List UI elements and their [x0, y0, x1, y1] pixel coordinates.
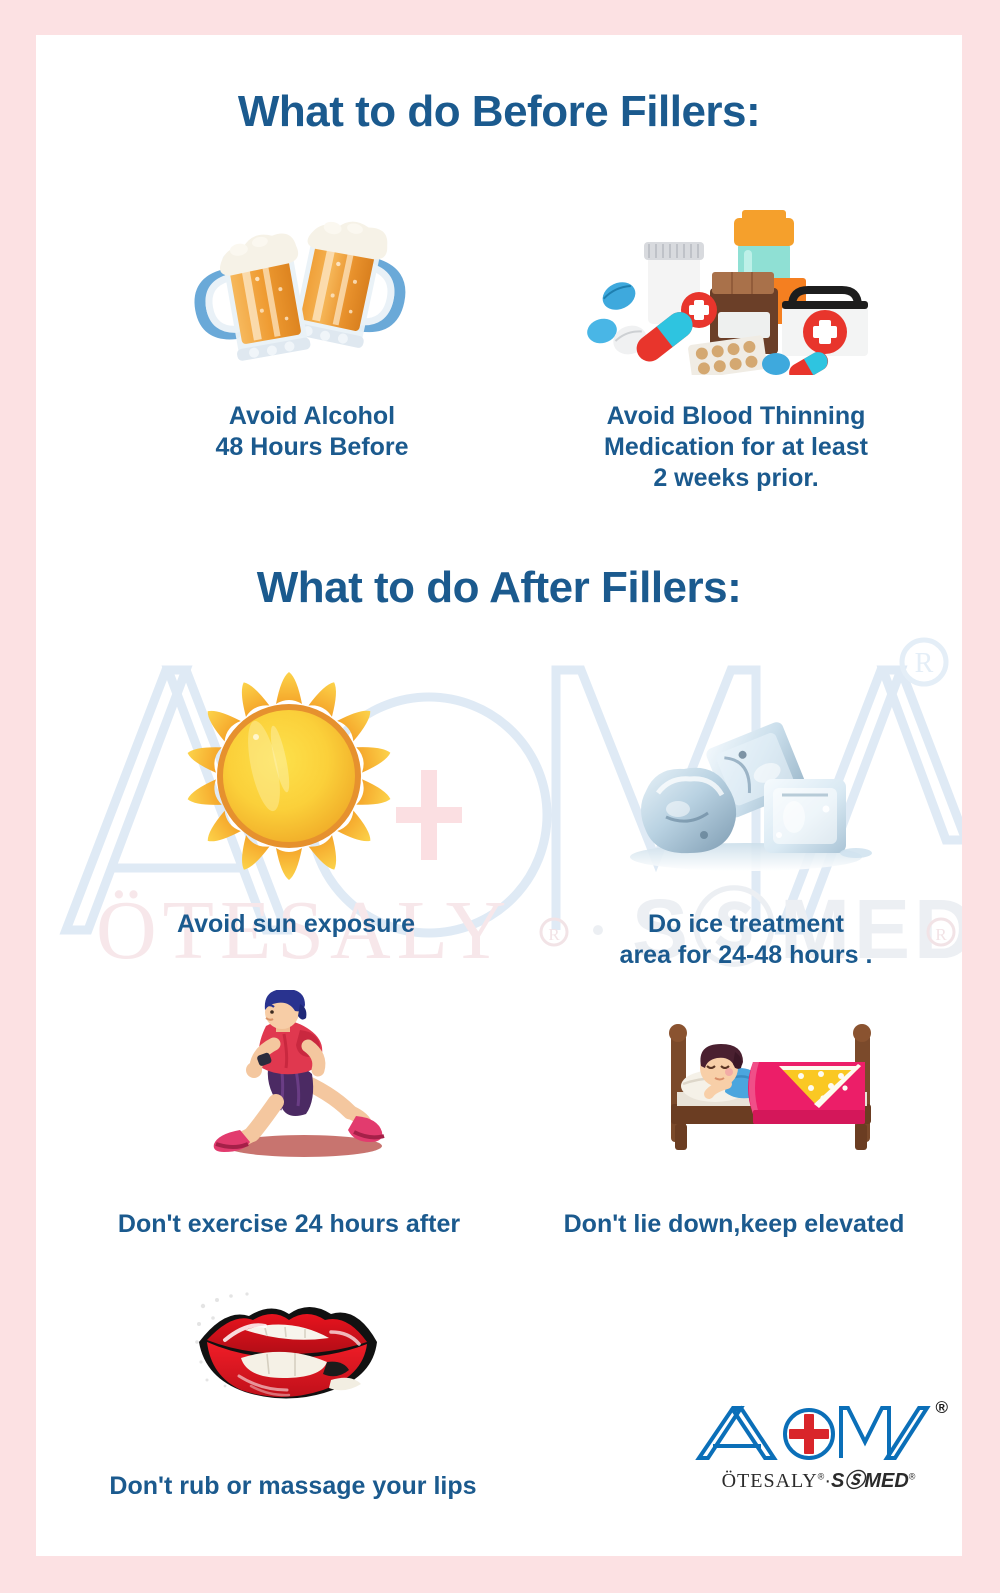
caption-avoid-sun: Avoid sun exposure	[106, 909, 486, 940]
logo-separator: ·	[824, 1470, 831, 1492]
medication-pills-icon	[586, 200, 876, 375]
aoma-logo: ® ÖTESALY®·SⓈMED®	[691, 1400, 946, 1493]
caption-dont-exercise: Don't exercise 24 hours after	[74, 1209, 504, 1240]
logo-registered-mark: ®	[935, 1398, 948, 1418]
caption-ice-treatment: Do ice treatment area for 24-48 hours .	[546, 909, 946, 971]
logo-otesaly-text: ÖTESALY	[722, 1470, 818, 1492]
svg-text:R: R	[915, 648, 934, 679]
running-man-icon	[196, 990, 411, 1170]
logo-somed-text: SⓈMED	[831, 1470, 909, 1492]
beer-mugs-icon	[191, 205, 421, 370]
heading-after-fillers: What to do After Fillers:	[36, 563, 962, 613]
caption-avoid-alcohol: Avoid Alcohol 48 Hours Before	[132, 401, 492, 463]
infographic-poster: R ÖTESALY R · SⓈMED R What to do Before …	[0, 0, 1000, 1593]
caption-dont-rub-lips: Don't rub or massage your lips	[58, 1471, 528, 1502]
aoma-logo-mark: ®	[691, 1400, 946, 1462]
sun-icon	[184, 671, 394, 881]
caption-dont-lie-down: Don't lie down,keep elevated	[514, 1209, 954, 1240]
aoma-logo-subtitle: ÖTESALY®·SⓈMED®	[691, 1464, 946, 1493]
red-lips-icon	[181, 1280, 396, 1415]
caption-avoid-blood-thinners: Avoid Blood Thinning Medication for at l…	[536, 401, 936, 494]
heading-before-fillers: What to do Before Fillers:	[36, 87, 962, 137]
ice-cubes-icon	[616, 717, 876, 882]
person-in-bed-icon	[631, 1000, 906, 1160]
poster-inner-panel: R ÖTESALY R · SⓈMED R What to do Before …	[36, 35, 962, 1556]
